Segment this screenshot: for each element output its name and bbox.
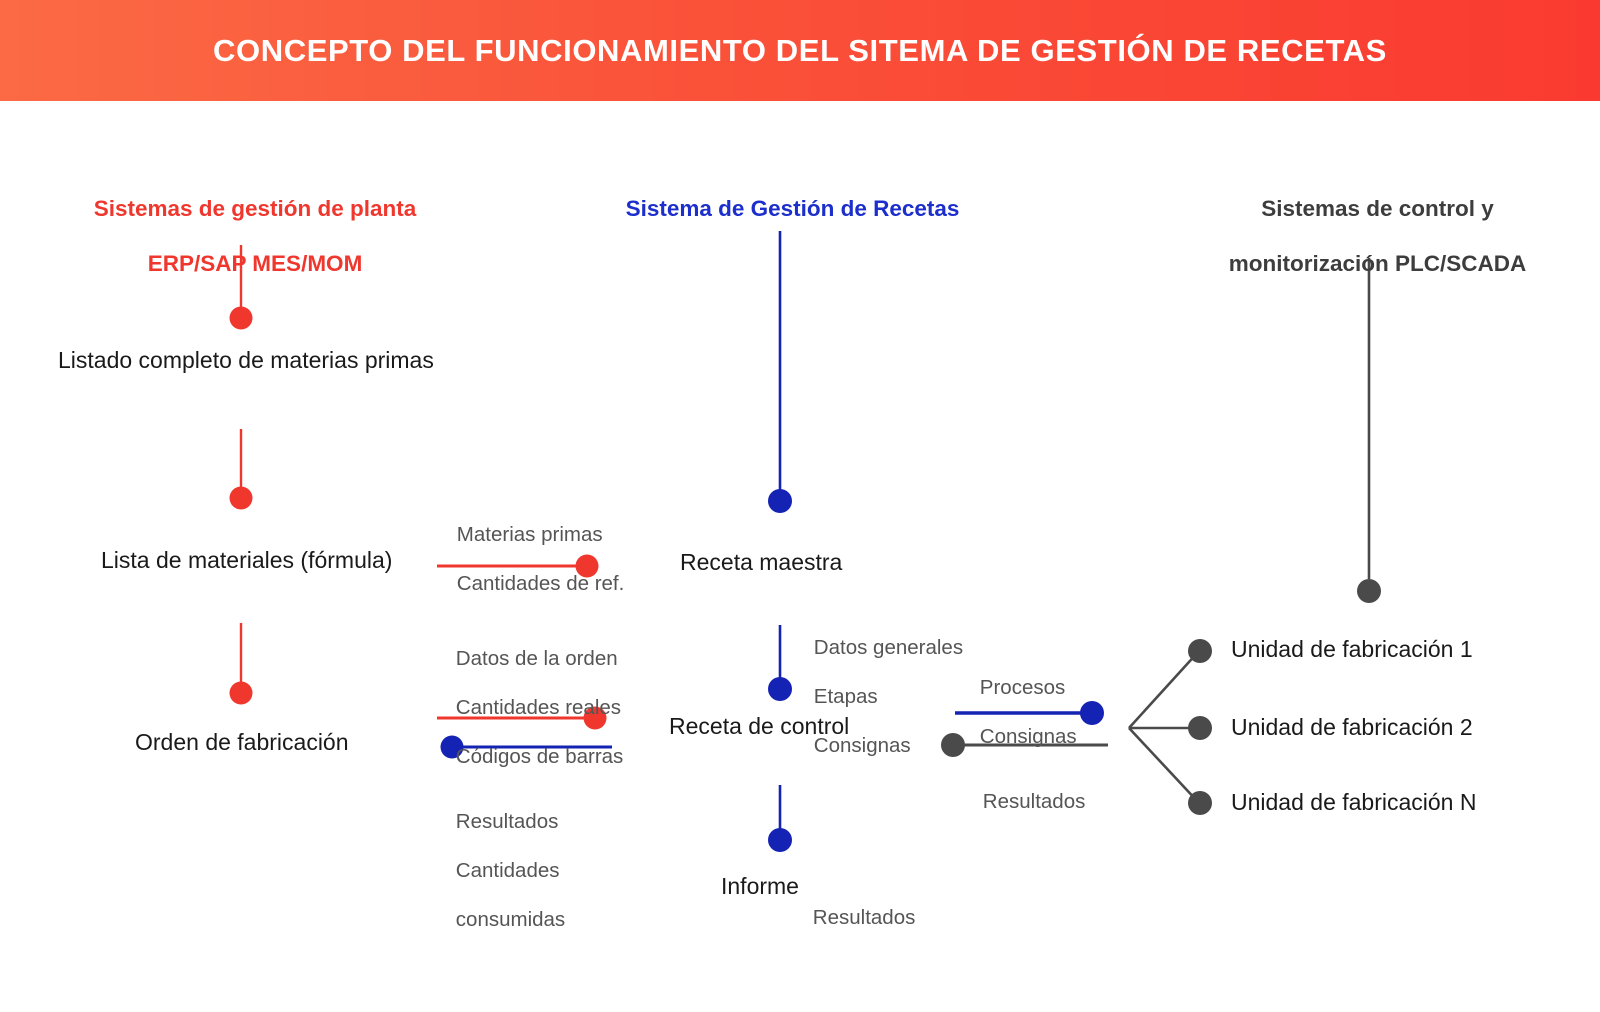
annotation-master-to-control-line1: Datos generales bbox=[814, 636, 963, 659]
node-label-lista-materiales: Lista de materiales (fórmula) bbox=[101, 548, 392, 574]
node-label-listado-materias-primas: Listado completo de materias primas bbox=[58, 348, 434, 374]
middle-column-heading-line1: Sistema de Gestión de Recetas bbox=[626, 196, 960, 221]
annotation-to-plc-line2: Consignas bbox=[980, 725, 1077, 748]
annotation-order-transfer-line2: Cantidades reales bbox=[456, 696, 621, 719]
page-title: CONCEPTO DEL FUNCIONAMIENTO DEL SITEMA D… bbox=[213, 33, 1387, 69]
annotation-master-to-control-line3: Consignas bbox=[814, 734, 911, 757]
annotation-control-to-report: Resultados bbox=[790, 881, 915, 955]
right-column-heading-line1: Sistemas de control y bbox=[1261, 196, 1494, 221]
left-column-heading: Sistemas de gestión de planta ERP/SAP ME… bbox=[45, 168, 440, 305]
annotation-results-back-line2: Cantidades bbox=[456, 859, 560, 882]
annotation-order-transfer: Datos de la orden Cantidades reales Códi… bbox=[433, 622, 623, 794]
left-column-heading-line1: Sistemas de gestión de planta bbox=[94, 196, 417, 221]
plc-fanout-connectors bbox=[1129, 639, 1212, 815]
annotation-results-back: Resultados Cantidades consumidas bbox=[433, 785, 565, 957]
middle-column-heading: Sistema de Gestión de Recetas bbox=[580, 168, 980, 250]
master-to-control-connector bbox=[768, 625, 792, 701]
annotation-order-transfer-line3: Códigos de barras bbox=[456, 745, 624, 768]
annotation-to-plc: Procesos Consignas bbox=[957, 651, 1077, 774]
left-column-heading-line2: ERP/SAP MES/MOM bbox=[148, 251, 363, 276]
left-column-connector-2 bbox=[230, 429, 253, 510]
annotation-order-transfer-line1: Datos de la orden bbox=[456, 647, 618, 670]
annotation-to-plc-line1: Procesos bbox=[980, 676, 1065, 699]
right-column-connector bbox=[1357, 258, 1381, 603]
annotation-from-plc-line1: Resultados bbox=[983, 790, 1086, 813]
annotation-master-to-control: Datos generales Etapas Consignas bbox=[791, 611, 963, 783]
node-label-unidad-fabricacion-n: Unidad de fabricación N bbox=[1231, 790, 1476, 816]
header-banner: CONCEPTO DEL FUNCIONAMIENTO DEL SITEMA D… bbox=[0, 0, 1600, 101]
annotation-results-back-line1: Resultados bbox=[456, 810, 559, 833]
annotation-master-to-control-line2: Etapas bbox=[814, 685, 878, 708]
annotation-bom-transfer: Materias primas Cantidades de ref. bbox=[434, 498, 624, 621]
right-column-heading-line2: monitorización PLC/SCADA bbox=[1229, 251, 1527, 276]
annotation-results-back-line3: consumidas bbox=[456, 908, 565, 931]
node-label-informe: Informe bbox=[721, 874, 799, 900]
node-label-orden-fabricacion: Orden de fabricación bbox=[135, 730, 349, 756]
node-label-unidad-fabricacion-1: Unidad de fabricación 1 bbox=[1231, 637, 1473, 663]
node-label-unidad-fabricacion-2: Unidad de fabricación 2 bbox=[1231, 715, 1473, 741]
control-to-report-connector bbox=[768, 785, 792, 852]
annotation-bom-transfer-line1: Materias primas bbox=[457, 523, 603, 546]
node-label-receta-maestra: Receta maestra bbox=[680, 550, 842, 576]
diagram-canvas: Sistemas de gestión de planta ERP/SAP ME… bbox=[0, 101, 1600, 1012]
left-column-connector-3 bbox=[230, 623, 253, 705]
annotation-from-plc: Resultados bbox=[960, 765, 1085, 839]
right-column-heading: Sistemas de control y monitorización PLC… bbox=[1150, 168, 1580, 305]
annotation-control-to-report-line1: Resultados bbox=[813, 906, 916, 929]
annotation-bom-transfer-line2: Cantidades de ref. bbox=[457, 572, 625, 595]
middle-column-connector-1 bbox=[768, 231, 792, 513]
